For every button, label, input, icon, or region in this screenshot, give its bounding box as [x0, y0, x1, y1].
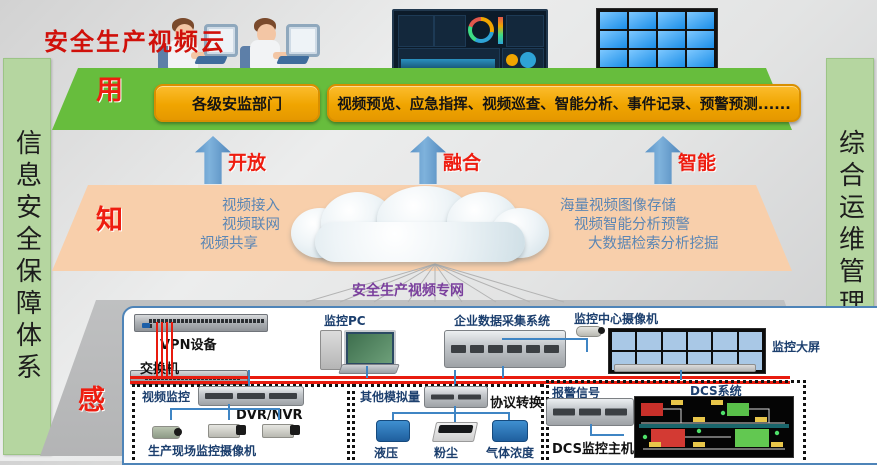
dcs-system-screen — [634, 396, 794, 458]
big-screen-label: 监控大屏 — [772, 338, 820, 355]
layer-label-sense: 感 — [78, 378, 105, 417]
cloud-caption-right-line-3: 大数据检索分析挖掘 — [588, 235, 760, 254]
arrow-label-smart: 智能 — [678, 148, 716, 175]
infrastructure-panel: VPN设备 交换机 监控PC 企业数据采集系统 监控中心摄像机 — [122, 306, 877, 465]
monitor-pc-keyboard-icon — [338, 364, 400, 374]
vpn-device-label: VPN设备 — [160, 334, 216, 353]
cloud-caption-left-line-3: 视频共享 — [140, 235, 258, 254]
arrow-open — [195, 136, 231, 184]
cloud-caption-right: 海量视频图像存储 视频智能分析预警 大数据检索分析挖掘 — [560, 197, 760, 254]
cloud-caption-right-line-1: 海量视频图像存储 — [560, 197, 760, 216]
functions-button[interactable]: 视频预览、应急指挥、视频巡查、智能分析、事件记录、预警预测...... — [327, 84, 801, 122]
sensor-label-gas: 气体浓度 — [486, 444, 534, 461]
dcs-host-label: DCS监控主机 — [552, 438, 634, 457]
gas-sensor-icon — [492, 420, 528, 442]
data-collect-label: 企业数据采集系统 — [454, 312, 550, 329]
arrow-smart — [645, 136, 681, 184]
video-wall-illustration — [596, 8, 718, 71]
cloud-caption-left: 视频接入 视频联网 视频共享 — [140, 197, 280, 254]
site-camera-icon-3 — [262, 422, 302, 438]
analog-signals-title: 其他模拟量 — [360, 388, 420, 405]
dust-sensor-icon — [432, 422, 478, 442]
cloud-title: 安全生产视频云 — [0, 0, 270, 78]
site-camera-icon-2 — [208, 422, 248, 438]
dept-button[interactable]: 各级安监部门 — [154, 84, 320, 122]
cloud-caption-left-line-2: 视频联网 — [140, 216, 280, 235]
layer-label-use: 用 — [96, 68, 123, 107]
private-network-label: 安全生产视频专网 — [352, 280, 464, 300]
hydraulic-sensor-icon — [376, 420, 410, 442]
center-camera-icon — [576, 324, 606, 336]
sensor-label-dust: 粉尘 — [434, 444, 458, 461]
arrow-label-fusion: 融合 — [443, 148, 481, 175]
cloud-shape — [285, 186, 555, 264]
diagram-canvas: 信息安全保障体系 综合运维管理体系 — [0, 0, 877, 461]
arrow-label-open: 开放 — [228, 148, 266, 175]
site-camera-icon-1 — [150, 420, 184, 440]
protocol-converter-icon — [424, 386, 488, 408]
monitor-pc-label: 监控PC — [324, 312, 366, 329]
video-surveillance-title: 视频监控 — [142, 388, 190, 405]
layer-label-know: 知 — [96, 198, 123, 237]
monitor-pc-tower-icon — [320, 330, 342, 370]
protocol-converter-label: 协议转换 — [490, 392, 542, 411]
dcs-host-icon — [546, 398, 634, 426]
arrow-fusion — [410, 136, 446, 184]
data-collect-server-icon — [444, 330, 566, 368]
site-cameras-caption: 生产现场监控摄像机 — [148, 442, 256, 459]
monitor-pc-screen-icon — [344, 330, 396, 367]
vpn-device-icon — [134, 314, 268, 332]
dvr-nvr-icon — [198, 386, 304, 406]
sensor-label-hydraulic: 液压 — [374, 444, 398, 461]
dvr-nvr-label: DVR/NVR — [236, 408, 303, 423]
cloud-caption-left-line-1: 视频接入 — [140, 197, 280, 216]
control-room-desk — [614, 364, 756, 372]
cloud-caption-right-line-2: 视频智能分析预警 — [574, 216, 760, 235]
switch-label: 交换机 — [140, 358, 179, 377]
